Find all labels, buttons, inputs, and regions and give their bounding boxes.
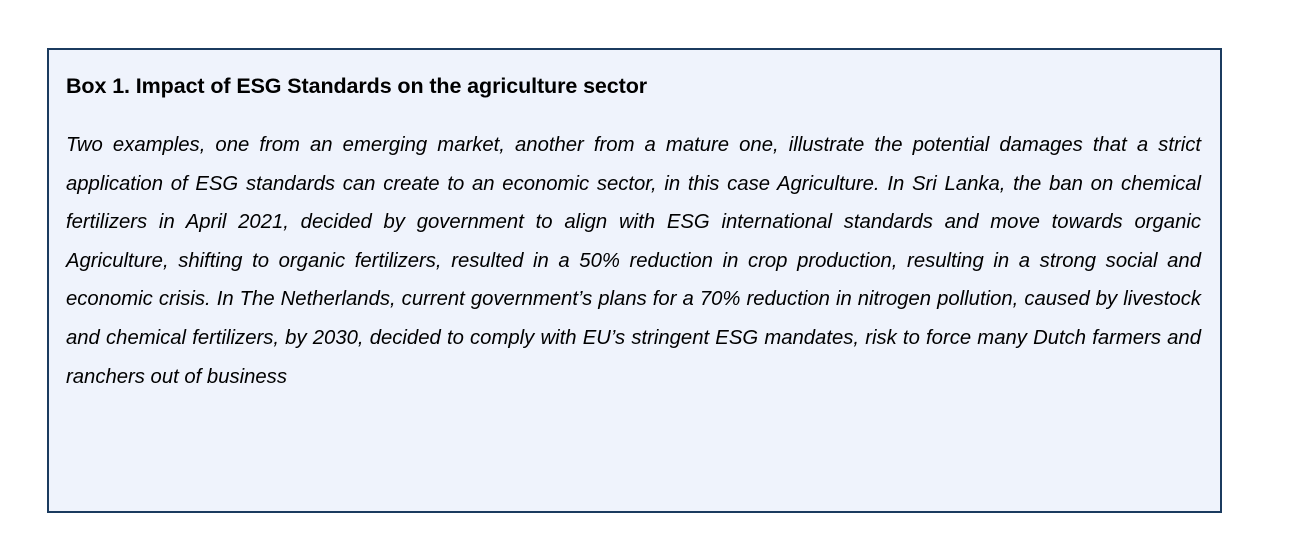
document-page: Box 1. Impact of ESG Standards on the ag… <box>0 0 1296 558</box>
callout-box: Box 1. Impact of ESG Standards on the ag… <box>47 48 1222 513</box>
callout-box-title: Box 1. Impact of ESG Standards on the ag… <box>66 67 1202 101</box>
callout-box-body-text: Two examples, one from an emerging marke… <box>66 101 1202 396</box>
